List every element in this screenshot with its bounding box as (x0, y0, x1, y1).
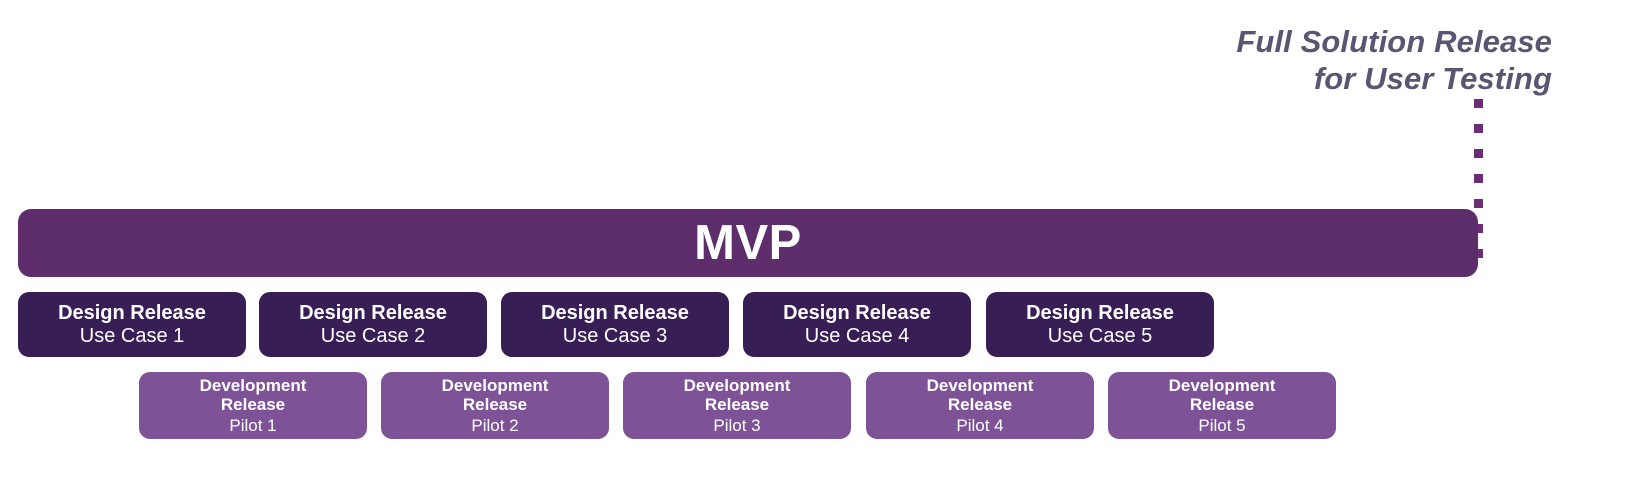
connector-dot (1474, 124, 1483, 133)
roadmap-diagram: Full Solution Release for User Testing M… (0, 0, 1648, 504)
design-release-card-subtitle: Use Case 3 (563, 325, 668, 347)
design-release-card-subtitle: Use Case 1 (80, 325, 185, 347)
development-release-card-subtitle: Pilot 1 (229, 416, 276, 435)
development-release-card-title: Development Release (200, 376, 307, 414)
design-release-card-subtitle: Use Case 4 (805, 325, 910, 347)
development-release-card-4[interactable]: Development ReleasePilot 4 (866, 372, 1094, 439)
design-release-card-title: Design Release (783, 302, 931, 324)
design-release-card-5[interactable]: Design ReleaseUse Case 5 (986, 292, 1214, 357)
development-release-card-5[interactable]: Development ReleasePilot 5 (1108, 372, 1336, 439)
design-release-card-title: Design Release (58, 302, 206, 324)
design-release-card-2[interactable]: Design ReleaseUse Case 2 (259, 292, 487, 357)
connector-dot (1474, 199, 1483, 208)
design-release-card-title: Design Release (299, 302, 447, 324)
mvp-label: MVP (694, 219, 802, 268)
full-solution-release-callout: Full Solution Release for User Testing (1032, 24, 1552, 97)
development-release-card-subtitle: Pilot 3 (713, 416, 760, 435)
development-release-card-title: Development Release (442, 376, 549, 414)
development-release-card-subtitle: Pilot 5 (1198, 416, 1245, 435)
development-release-card-title: Development Release (927, 376, 1034, 414)
development-release-card-subtitle: Pilot 4 (956, 416, 1003, 435)
development-release-card-title: Development Release (684, 376, 791, 414)
design-release-card-subtitle: Use Case 5 (1048, 325, 1153, 347)
design-release-card-title: Design Release (1026, 302, 1174, 324)
development-release-card-2[interactable]: Development ReleasePilot 2 (381, 372, 609, 439)
design-release-card-3[interactable]: Design ReleaseUse Case 3 (501, 292, 729, 357)
connector-dot (1474, 99, 1483, 108)
design-release-card-title: Design Release (541, 302, 689, 324)
design-release-card-subtitle: Use Case 2 (321, 325, 426, 347)
development-release-card-subtitle: Pilot 2 (471, 416, 518, 435)
development-release-card-3[interactable]: Development ReleasePilot 3 (623, 372, 851, 439)
connector-dot (1474, 149, 1483, 158)
development-release-card-title: Development Release (1169, 376, 1276, 414)
mvp-bar[interactable]: MVP (18, 209, 1478, 277)
connector-dot (1474, 174, 1483, 183)
development-release-card-1[interactable]: Development ReleasePilot 1 (139, 372, 367, 439)
design-release-card-4[interactable]: Design ReleaseUse Case 4 (743, 292, 971, 357)
design-release-card-1[interactable]: Design ReleaseUse Case 1 (18, 292, 246, 357)
